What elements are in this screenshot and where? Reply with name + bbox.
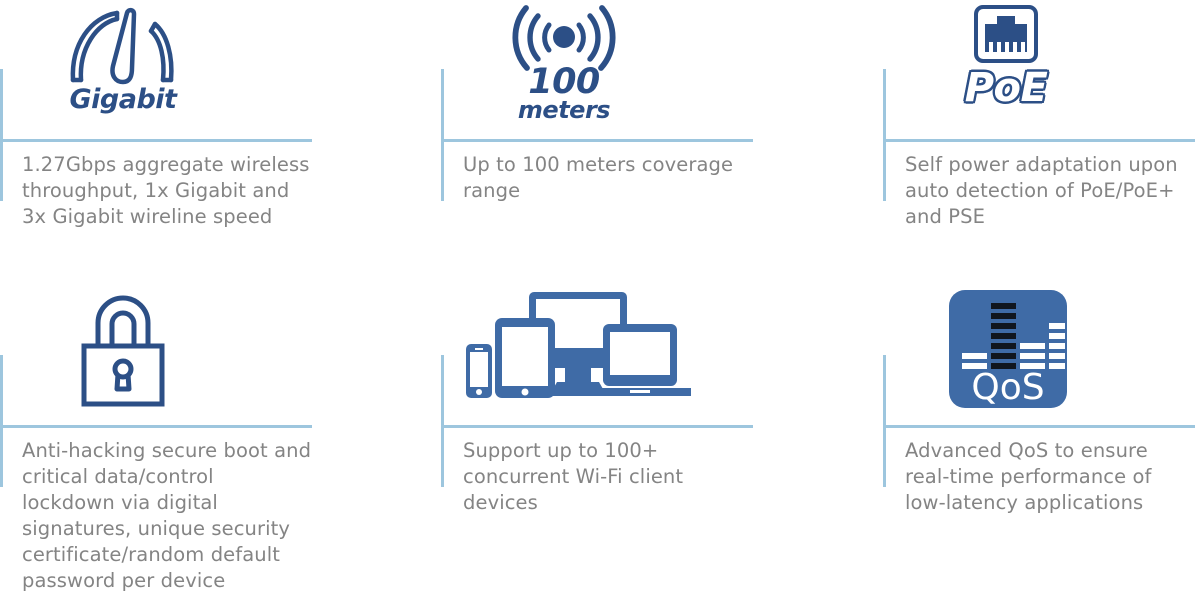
icon-area-security: [0, 286, 312, 425]
icon-area-qos: QoS: [883, 286, 1195, 425]
divider-vertical: [0, 355, 3, 487]
icon-area-clients: [441, 286, 753, 425]
qos-icon-group: QoS: [913, 290, 1103, 425]
divider-horizontal: [0, 139, 312, 142]
divider-vertical: [0, 69, 3, 201]
feature-description: 1.27Gbps aggregate wireless throughput, …: [22, 152, 312, 230]
gigabit-icon-group: Gigabit: [28, 4, 218, 139]
divider-horizontal: [883, 139, 1195, 142]
icon-area-gigabit: Gigabit: [0, 0, 312, 139]
equalizer-qos-icon: QoS: [949, 290, 1067, 408]
coverage-value: 100: [518, 66, 610, 98]
feature-card-gigabit: Gigabit 1.27Gbps aggregate wireless thro…: [0, 0, 312, 139]
feature-grid: Gigabit 1.27Gbps aggregate wireless thro…: [0, 0, 1200, 594]
coverage-icon-group: 100 meters: [469, 4, 659, 139]
clients-icon-group: [455, 290, 695, 425]
feature-description: Support up to 100+ concurrent Wi-Fi clie…: [463, 438, 753, 516]
icon-area-poe: PoE: [883, 0, 1195, 139]
divider-horizontal: [441, 139, 753, 142]
poe-wordmark: PoE: [965, 65, 1048, 111]
poe-icon-group: PoE: [911, 4, 1101, 139]
feature-card-clients: Support up to 100+ concurrent Wi-Fi clie…: [441, 286, 753, 425]
divider-vertical: [883, 69, 886, 201]
coverage-unit: meters: [518, 99, 610, 121]
qos-wordmark: QoS: [971, 367, 1044, 408]
coverage-wordmark: 100 meters: [518, 66, 610, 121]
padlock-icon: [68, 290, 178, 408]
divider-horizontal: [441, 425, 753, 428]
feature-card-coverage: 100 meters Up to 100 meters coverage ran…: [441, 0, 753, 139]
multi-device-icon: [459, 290, 691, 404]
gigabit-wordmark: Gigabit: [70, 84, 177, 115]
divider-horizontal: [883, 425, 1195, 428]
feature-description: Anti-hacking secure boot and critical da…: [22, 438, 312, 594]
security-icon-group: [28, 290, 218, 425]
gigabit-speed-icon: [59, 4, 187, 88]
feature-description: Self power adaptation upon auto detectio…: [905, 152, 1195, 230]
feature-description: Advanced QoS to ensure real-time perform…: [905, 438, 1195, 516]
divider-vertical: [883, 355, 886, 487]
divider-vertical: [441, 69, 444, 201]
feature-description: Up to 100 meters coverage range: [463, 152, 753, 204]
feature-card-security: Anti-hacking secure boot and critical da…: [0, 286, 312, 425]
icon-area-coverage: 100 meters: [441, 0, 753, 139]
feature-card-qos: QoS Advanced QoS to ensure real-time per…: [883, 286, 1195, 425]
feature-card-poe: PoE Self power adaptation upon auto dete…: [883, 0, 1195, 139]
divider-horizontal: [0, 425, 312, 428]
divider-vertical: [441, 355, 444, 487]
ethernet-port-icon: [973, 4, 1039, 64]
